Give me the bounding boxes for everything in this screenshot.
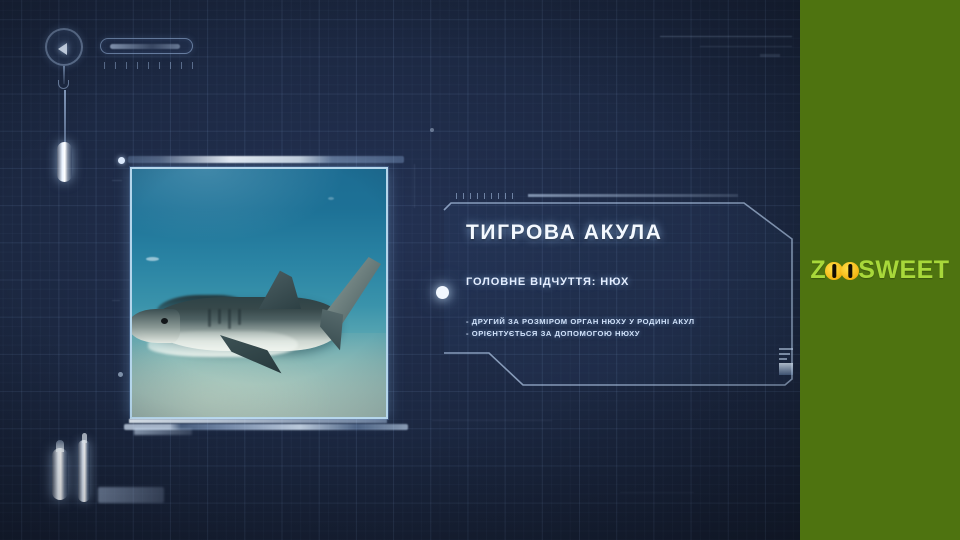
readout-bar xyxy=(779,358,787,360)
hud-line-mid xyxy=(414,164,415,208)
shark-snout xyxy=(130,309,180,343)
hud-line-bottom-2 xyxy=(620,492,694,493)
shark-stripe xyxy=(228,309,231,329)
hud-tick-left-2 xyxy=(112,300,120,301)
hud-mini-readout xyxy=(779,348,793,382)
hud-progress-fill xyxy=(110,44,180,49)
hud-line-top-right-3 xyxy=(760,54,780,57)
hud-node-top xyxy=(430,128,434,132)
hud-slider-handle[interactable] xyxy=(57,142,72,182)
tiger-shark xyxy=(134,261,384,381)
shark-photo xyxy=(130,167,388,419)
list-item: - ОРІЄНТУЄТЬСЯ ЗА ДОПОМОГОЮ НЮХУ xyxy=(466,328,695,340)
callout-header-ticks xyxy=(456,193,518,199)
hud-slider-track xyxy=(64,90,66,150)
shark-stripe xyxy=(238,309,241,325)
photo-caption xyxy=(134,428,192,435)
hud-line-top-right-2 xyxy=(700,46,792,47)
brand-panel: ZSWEET xyxy=(800,0,960,540)
slide-stage: ТИГРОВА АКУЛА ГОЛОВНЕ ВІДЧУТТЯ: НЮХ - ДР… xyxy=(0,0,800,540)
presentation-slide: ТИГРОВА АКУЛА ГОЛОВНЕ ВІДЧУТТЯ: НЮХ - ДР… xyxy=(0,0,960,540)
callout-connector-node xyxy=(436,286,449,299)
readout-bar xyxy=(779,353,790,355)
hud-gauge-primary[interactable] xyxy=(52,448,68,500)
list-item: - ДРУГИЙ ЗА РОЗМІРОМ ОРГАН НЮХУ У РОДИНІ… xyxy=(466,316,695,328)
callout-top-rail xyxy=(528,194,738,197)
shark-stripe xyxy=(208,309,211,327)
zoosweet-logo: ZSWEET xyxy=(800,256,960,285)
readout-block xyxy=(779,363,793,375)
shark-tail-lower xyxy=(320,309,360,355)
readout-bar xyxy=(779,348,793,350)
shark-stripe xyxy=(218,309,221,324)
photo-frame-bottom-bar-inner xyxy=(129,419,387,423)
info-callout-panel: ТИГРОВА АКУЛА ГОЛОВНЕ ВІДЧУТТЯ: НЮХ - ДР… xyxy=(444,203,792,385)
shark-dorsal-fin xyxy=(256,269,302,309)
logo-prefix: Z xyxy=(810,256,826,285)
hud-node-left xyxy=(118,372,123,377)
hud-dial-control[interactable] xyxy=(45,28,83,66)
hud-progress-bar[interactable] xyxy=(100,38,193,54)
shark-tail xyxy=(320,257,386,361)
hud-gauge-secondary[interactable] xyxy=(78,440,90,502)
subtitle: ГОЛОВНЕ ВІДЧУТТЯ: НЮХ xyxy=(466,276,629,288)
photo-frame-top-bar xyxy=(128,156,404,163)
hud-line-top-right xyxy=(660,36,792,37)
page-title: ТИГРОВА АКУЛА xyxy=(466,221,662,245)
photo-frame-node xyxy=(118,157,125,164)
shark-eye xyxy=(161,318,168,324)
hud-tick-marks xyxy=(104,62,196,69)
fact-list: - ДРУГИЙ ЗА РОЗМІРОМ ОРГАН НЮХУ У РОДИНІ… xyxy=(466,316,695,340)
hud-tick-left-1 xyxy=(112,180,122,181)
cat-eye-icon xyxy=(841,262,859,280)
hud-gauge-label xyxy=(98,487,164,503)
logo-suffix: SWEET xyxy=(858,256,949,285)
underwater-scene xyxy=(132,169,386,417)
water-speck xyxy=(328,197,334,200)
hud-line-bottom xyxy=(432,420,552,421)
play-triangle-icon xyxy=(58,43,67,55)
